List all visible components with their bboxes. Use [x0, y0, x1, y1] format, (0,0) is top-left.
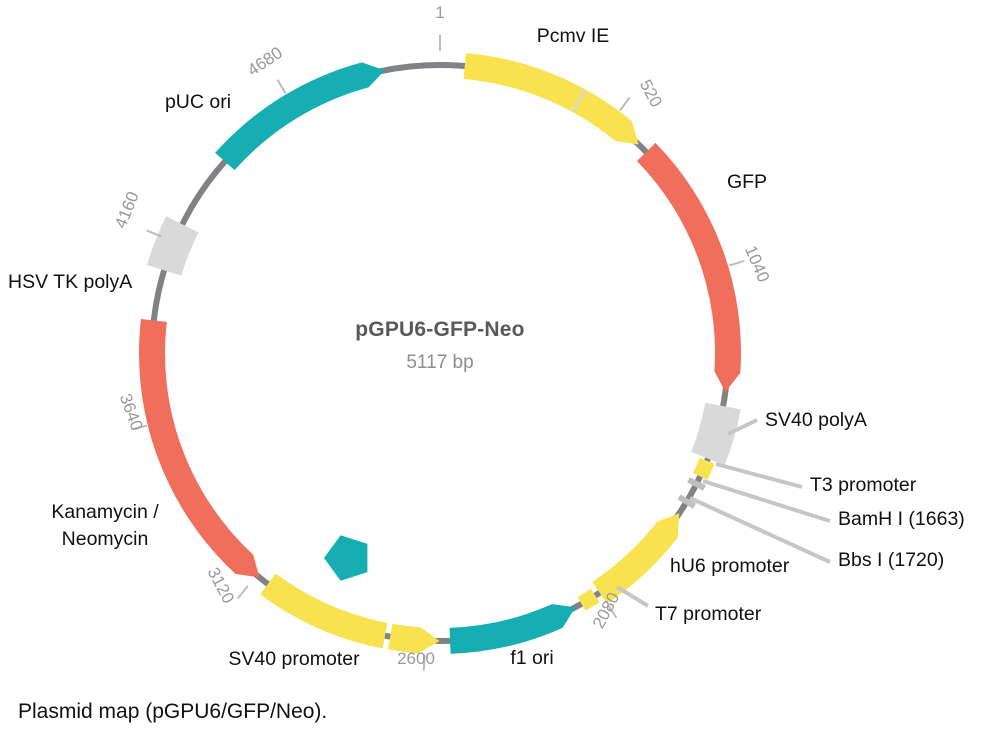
plasmid-size: 5117 bp: [406, 352, 473, 373]
feature-arc-sv40-polya[interactable]: [691, 403, 741, 466]
leader-line: [716, 464, 802, 487]
tick-mark-1040: [729, 261, 744, 266]
feature-label-sv40-polya[interactable]: SV40 polyA: [765, 409, 867, 431]
feature-label-hu6-promoter[interactable]: hU6 promoter: [670, 555, 790, 577]
feature-arc-gfp[interactable]: [637, 143, 741, 392]
figure-caption: Plasmid map (pGPU6/GFP/Neo).: [18, 700, 327, 724]
feature-arc-kanamycin-neomycin[interactable]: [139, 319, 260, 577]
feature-label-kanamycin[interactable]: Kanamycin /: [51, 501, 159, 523]
feature-label-pcmv-ie[interactable]: Pcmv IE: [537, 25, 610, 47]
tick-label-1040: 1040: [741, 243, 773, 285]
tick-mark-520: [620, 98, 630, 111]
feature-label-t3-promoter[interactable]: T3 promoter: [810, 474, 917, 496]
tick-mark-4680: [277, 80, 285, 94]
feature-label-kanamycin-line2[interactable]: Neomycin: [62, 528, 149, 550]
feature-arc-hsv-tk-polya[interactable]: [147, 216, 199, 275]
tick-label-1: 1: [435, 3, 444, 22]
leader-line: [617, 587, 648, 606]
feature-label-sv40-promoter[interactable]: SV40 promoter: [228, 648, 360, 670]
feature-arc-puc-ori[interactable]: [215, 62, 385, 170]
feature-label-puc-ori[interactable]: pUC ori: [165, 91, 231, 113]
tick-label-4680: 4680: [244, 43, 286, 80]
plasmid-map-figure: 15201040208026003120364041604680 Pcmv IE…: [0, 0, 982, 744]
feature-label-t7-promoter[interactable]: T7 promoter: [655, 603, 762, 625]
tick-label-4160: 4160: [111, 189, 143, 231]
feature-label-hsv-tk-polya[interactable]: HSV TK polyA: [8, 271, 132, 293]
tick-label-3640: 3640: [116, 391, 147, 433]
tick-mark-3120: [238, 586, 248, 598]
feature-arc-t3-promoter[interactable]: [693, 458, 714, 480]
feature-label-bamh-i-1663[interactable]: BamH I (1663): [838, 508, 965, 530]
plasmid-name: pGPU6-GFP-Neo: [355, 318, 524, 341]
plasmid-map-svg: 15201040208026003120364041604680 Pcmv IE…: [0, 0, 982, 744]
tick-label-2600: 2600: [397, 649, 435, 668]
feature-arc-sv40-promoter-main[interactable]: [260, 574, 387, 649]
leader-line: [690, 498, 830, 562]
feature-arc-pcmv-ie[interactable]: [464, 53, 639, 144]
center-annotation: pGPU6-GFP-Neo 5117 bp: [355, 318, 524, 373]
pentagon-icon: [324, 535, 367, 581]
feature-label-f1-ori[interactable]: f1 ori: [510, 647, 553, 669]
origin-pentagon-marker: [324, 535, 367, 581]
tick-label-520: 520: [636, 76, 666, 110]
feature-label-bbs-i-1720[interactable]: Bbs I (1720): [838, 549, 944, 571]
feature-label-gfp[interactable]: GFP: [727, 171, 767, 193]
